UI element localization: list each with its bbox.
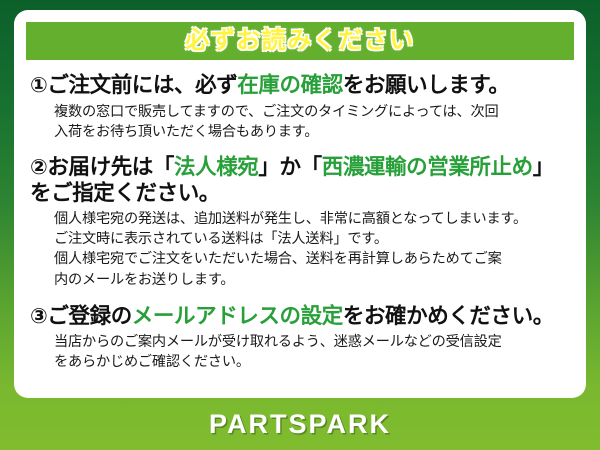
notice-item-3-head-part-1: メールアドレスの設定	[132, 304, 343, 328]
notice-item-3-subline-0: 当店からのご案内メールが受け取れるよう、迷惑メールなどの受信設定	[54, 332, 576, 352]
notice-item-3-head-part-2: をお確かめください。	[343, 304, 554, 328]
notice-item-3-head-part-0: ご登録の	[47, 304, 131, 328]
notice-item-1: ①ご注文前には、必ず在庫の確認をお願いします。 複数の窓口で販売してますので、ご…	[30, 72, 576, 142]
notice-item-3-heading: ③ご登録のメールアドレスの設定をお確かめください。	[30, 303, 576, 330]
notice-footer: PARTSPARK	[0, 398, 600, 450]
notice-item-2-heading: ②お届け先は「法人様宛」か「西濃運輸の営業所止め」をご指定ください。	[30, 155, 576, 206]
notice-item-2-subline-1: ご注文時に表示されている送料は「法人送料」です。	[54, 229, 576, 249]
notice-item-2-marker: ②	[30, 156, 47, 179]
notice-item-2-subline-2: 個人様宅宛でご注文をいただいた場合、送料を再計算しあらためてご案	[54, 249, 576, 269]
notice-item-2-head-part-4: 」	[533, 155, 554, 179]
notice-item-3-marker: ③	[30, 305, 47, 328]
notice-item-3-subline-1: をあらかじめご確認ください。	[54, 352, 576, 372]
notice-item-1-subline-1: 入荷をお待ち頂いただく場合もあります。	[54, 122, 576, 142]
notice-item-1-head-part-0: ご注文前には、必ず	[47, 73, 237, 97]
notice-item-2-head-part-0: お届け先は「	[47, 155, 174, 179]
notice-item-1-head-part-1: 在庫の確認	[237, 73, 343, 97]
notice-item-3-subtext: 当店からのご案内メールが受け取れるよう、迷惑メールなどの受信設定 をあらかじめご…	[30, 332, 576, 372]
notice-item-1-subtext: 複数の窓口で販売してますので、ご注文のタイミングによっては、次回 入荷をお待ち頂…	[30, 102, 576, 142]
notice-item-2-subline-3: 内のメールをお送りします。	[54, 270, 576, 290]
notice-item-2-head-part-2: 」か「	[258, 155, 321, 179]
notice-card: 必ずお読みください ①ご注文前には、必ず在庫の確認をお願いします。 複数の窓口で…	[14, 10, 586, 398]
notice-item-2-head-part-5: をご指定ください。	[30, 181, 220, 205]
notice-item-2-subtext: 個人様宅宛の発送は、追加送料が発生し、非常に高額となってしまいます。 ご注文時に…	[30, 209, 576, 290]
brand-wordmark: PARTSPARK	[209, 411, 391, 438]
notice-banner-root: 必ずお読みください ①ご注文前には、必ず在庫の確認をお願いします。 複数の窓口で…	[0, 0, 600, 450]
banner-title: 必ずお読みください	[185, 29, 415, 53]
notice-item-2-subline-0: 個人様宅宛の発送は、追加送料が発生し、非常に高額となってしまいます。	[54, 209, 576, 229]
notice-item-1-subline-0: 複数の窓口で販売してますので、ご注文のタイミングによっては、次回	[54, 102, 576, 122]
notice-items-list: ①ご注文前には、必ず在庫の確認をお願いします。 複数の窓口で販売してますので、ご…	[14, 72, 586, 373]
notice-header-banner: 必ずお読みください	[26, 22, 574, 60]
notice-item-1-heading: ①ご注文前には、必ず在庫の確認をお願いします。	[30, 72, 576, 99]
notice-item-1-head-part-2: をお願いします。	[343, 73, 510, 97]
notice-item-1-marker: ①	[30, 74, 47, 97]
notice-item-2-head-part-3: 西濃運輸の営業所止め	[322, 155, 533, 179]
notice-item-2-head-part-1: 法人様宛	[174, 155, 258, 179]
notice-item-2: ②お届け先は「法人様宛」か「西濃運輸の営業所止め」をご指定ください。 個人様宅宛…	[30, 155, 576, 290]
notice-item-3: ③ご登録のメールアドレスの設定をお確かめください。 当店からのご案内メールが受け…	[30, 303, 576, 373]
